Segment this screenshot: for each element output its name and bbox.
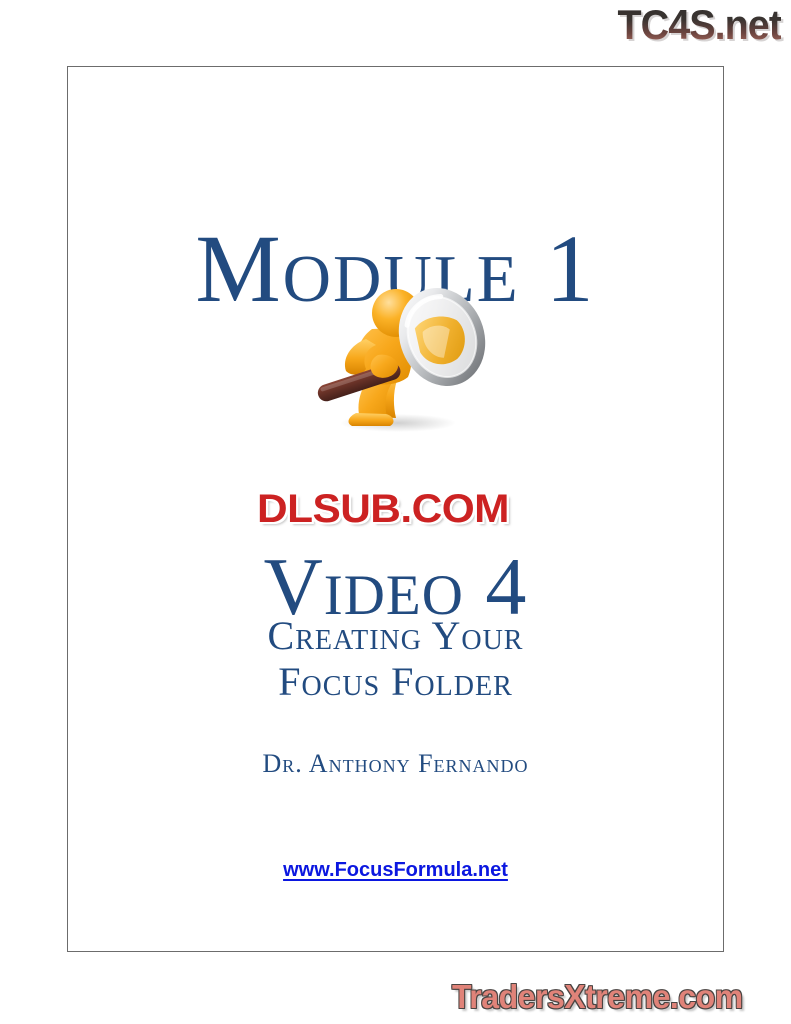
- top-right-watermark: TC4S.net: [617, 2, 781, 48]
- website-link[interactable]: www.FocusFormula.net: [283, 859, 508, 881]
- subtitle-line-2: Focus Folder: [68, 659, 723, 705]
- bottom-right-watermark: TradersXtreme.com: [452, 978, 743, 1016]
- author-name: Dr. Anthony Fernando: [68, 749, 723, 779]
- url-container: www.FocusFormula.net: [68, 857, 723, 883]
- subtitle: Creating Your Focus Folder: [68, 613, 723, 705]
- cover-page-sheet: Module 1: [67, 66, 724, 952]
- magnifying-glass-figure-icon: [286, 273, 506, 433]
- magnifying-glass-figure: [68, 273, 723, 433]
- subtitle-line-1: Creating Your: [68, 613, 723, 659]
- center-watermark: DLSUB.COM: [257, 487, 509, 531]
